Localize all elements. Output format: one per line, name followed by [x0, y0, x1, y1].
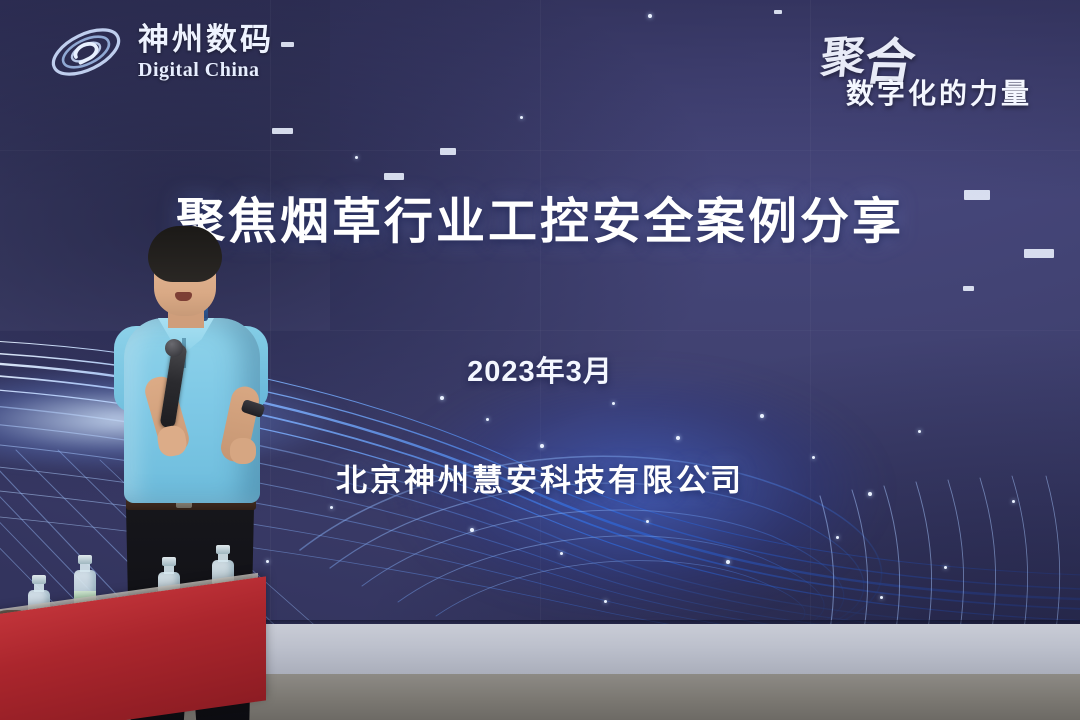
- digital-china-logo: 神州数码 Digital China: [46, 16, 274, 88]
- speaker-hand-right: [230, 438, 256, 464]
- speaker-mouth: [175, 292, 192, 301]
- led-panel-seam: [0, 150, 1080, 151]
- brand-name-en: Digital China: [138, 60, 274, 80]
- speaker-figure: [96, 226, 296, 626]
- brand-name-cn: 神州数码: [138, 24, 274, 55]
- speaker-hair: [148, 226, 222, 282]
- galaxy-swirl-icon: [46, 16, 126, 88]
- event-tagline: 数字化的力量: [846, 72, 1032, 112]
- conference-stage-photo: 神州数码 Digital China 聚合 数字化的力量 聚焦烟草行业工控安全案…: [0, 0, 1080, 720]
- event-brand-mark: 聚合 数字化的力量: [794, 14, 1054, 112]
